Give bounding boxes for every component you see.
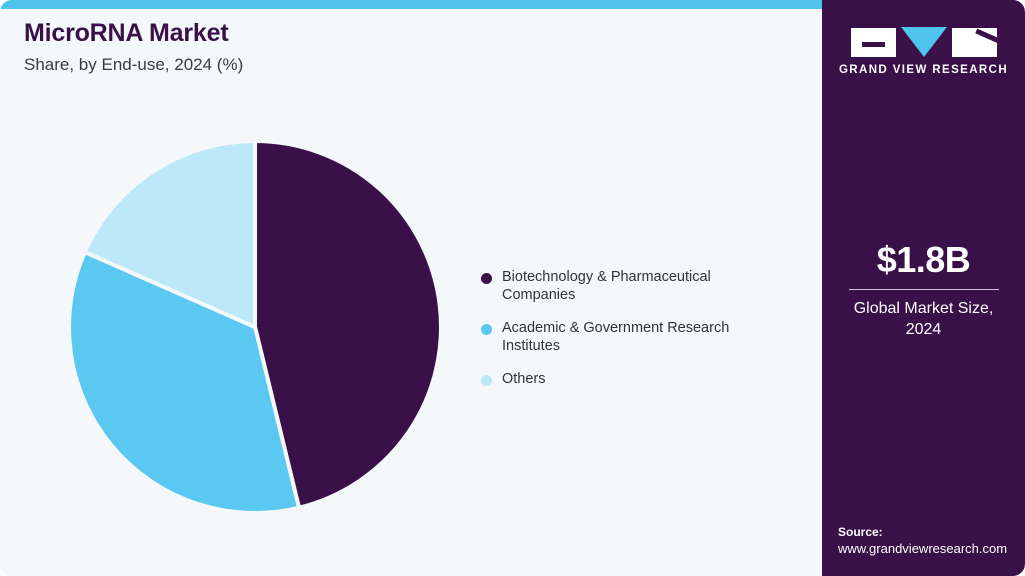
logo-g-icon xyxy=(851,28,896,57)
chart-subtitle: Share, by End-use, 2024 (%) xyxy=(24,55,624,75)
logo-r-icon xyxy=(952,28,997,57)
source-label: Source: xyxy=(838,524,1023,540)
legend-item-label: Academic & Government Research Institute… xyxy=(502,320,772,356)
legend-swatch-icon xyxy=(481,273,492,284)
page-title: MicroRNA Market xyxy=(24,19,624,48)
legend-item-biotechnology-pharmaceutical-companies[interactable]: Biotechnology & Pharmaceutical Companies xyxy=(481,269,791,305)
chart-card: MicroRNA Market Share, by End-use, 2024 … xyxy=(0,0,1025,576)
legend-swatch-icon xyxy=(481,375,492,386)
logo-marks xyxy=(822,27,1025,57)
grand-view-research-logo: GRAND VIEW RESEARCH xyxy=(822,27,1025,76)
brand-sidebar: GRAND VIEW RESEARCH $1.8B Global Market … xyxy=(822,0,1025,576)
source-url: www.grandviewresearch.com xyxy=(838,540,1023,558)
stat-caption: Global Market Size, 2024 xyxy=(822,299,1025,341)
legend-item-others[interactable]: Others xyxy=(481,371,791,389)
source-block: Source: www.grandviewresearch.com xyxy=(838,524,1023,558)
pie-chart-svg xyxy=(67,139,443,515)
legend-item-academic-government-research-institutes[interactable]: Academic & Government Research Institute… xyxy=(481,320,791,356)
logo-wordmark: GRAND VIEW RESEARCH xyxy=(822,64,1025,76)
chart-legend: Biotechnology & Pharmaceutical Companies… xyxy=(481,269,791,389)
pie-slice-group xyxy=(69,141,441,513)
logo-v-triangle-icon xyxy=(901,27,947,57)
pie-chart xyxy=(67,139,443,515)
stat-value: $1.8B xyxy=(822,242,1025,278)
market-size-stat: $1.8B Global Market Size, 2024 xyxy=(822,242,1025,341)
stat-divider xyxy=(849,289,999,290)
legend-item-label: Others xyxy=(502,371,546,389)
chart-header: MicroRNA Market Share, by End-use, 2024 … xyxy=(24,19,624,75)
legend-swatch-icon xyxy=(481,324,492,335)
legend-item-label: Biotechnology & Pharmaceutical Companies xyxy=(502,269,772,305)
